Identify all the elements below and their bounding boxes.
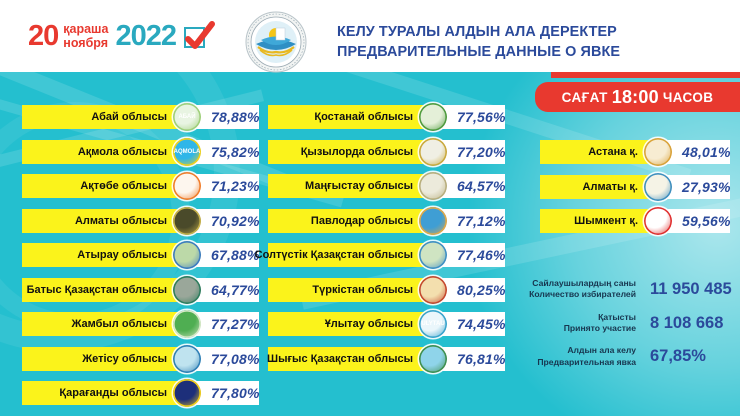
region-name: Атырау облысы [22,243,187,267]
region-row: Қостанай облысы77,56% [268,105,505,129]
region-row: Жамбыл облысы77,27% [22,312,259,336]
pavlodar-region-emblem [419,207,447,235]
title-ru: ПРЕДВАРИТЕЛЬНЫЕ ДАННЫЕ О ЯВКЕ [337,42,620,62]
region-name: Қостанай облысы [268,105,433,129]
zhambyl-region-emblem [173,310,201,338]
region-row: Батыс Қазақстан облысы64,77% [22,278,259,302]
summary-stat-label-ru: Принято участие [564,323,636,334]
aktobe-region-emblem [173,172,201,200]
summary-stat-label-ru: Количество избирателей [529,289,636,300]
summary-stat-label: Сайлаушылардың саныКоличество избирателе… [529,278,636,301]
karaganda-region-emblem [173,379,201,407]
region-name: Астана қ. [540,140,658,164]
summary-stat-value: 67,85% [636,347,740,366]
page-title: КЕЛУ ТУРАЛЫ АЛДЫН АЛА ДЕРЕКТЕР ПРЕДВАРИТ… [337,22,620,63]
region-row: Атырау облысы67,88% [22,243,259,267]
region-name: Жамбыл облысы [22,312,187,336]
astana-city-emblem [644,138,672,166]
region-name: Солтүстік Қазақстан облысы [268,243,433,267]
region-name: Шымкент қ. [540,209,658,233]
region-name: Ақмола облысы [22,140,187,164]
hour-banner-ru: ЧАСОВ [663,90,714,105]
region-name: Алматы облысы [22,209,187,233]
summary-stat: ҚатыстыПринято участие8 108 668 [520,312,740,335]
region-row: Абай облысы78,88%АБАЙ [22,105,259,129]
region-name: Абай облысы [22,105,187,129]
region-row: Шымкент қ.59,56% [540,209,730,233]
region-row: Жетісу облысы77,08% [22,347,259,371]
region-row: Павлодар облысы77,12% [268,209,505,233]
summary-stat-label-kk: Қатысты [564,312,636,323]
date-month-ru: ноября [63,37,108,50]
region-name: Алматы қ. [540,175,658,199]
turkistan-region-emblem [419,276,447,304]
region-name: Қызылорда облысы [268,140,433,164]
date-month: қараша ноября [63,23,108,50]
north-kazakhstan-region-emblem [419,241,447,269]
west-kazakhstan-region-emblem [173,276,201,304]
region-name: Жетісу облысы [22,347,187,371]
summary-stat-label-kk: Сайлаушылардың саны [529,278,636,289]
summary-stat-label: Алдын ала келуПредварительная явка [537,345,636,368]
date-year: 2022 [115,22,176,51]
date-day: 20 [28,22,58,51]
checkmark-icon [184,27,205,48]
region-row: Шығыс Қазақстан облысы76,81% [268,347,505,371]
election-date: 20 қараша ноября 2022 [28,22,205,51]
region-row: Ақмола облысы75,82%AQMOLA [22,140,259,164]
atyrau-region-emblem [173,241,201,269]
region-row: Түркістан облысы80,25% [268,278,505,302]
region-name: Шығыс Қазақстан облысы [268,347,433,371]
akmola-region-emblem: AQMOLA [173,138,201,166]
summary-stat: Алдын ала келуПредварительная явка67,85% [520,345,740,368]
region-name: Ақтөбе облысы [22,174,187,198]
region-name: Павлодар облысы [268,209,433,233]
page-header: 20 қараша ноября 2022 КЕЛУ ТУРАЛЫ АЛДЫН … [0,0,740,72]
region-row: Алматы қ.27,93% [540,175,730,199]
ulytau-region-emblem: ULYTAU [419,310,447,338]
summary-stat-label-ru: Предварительная явка [537,357,636,368]
region-row: Солтүстік Қазақстан облысы77,46% [268,243,505,267]
kyzylorda-region-emblem [419,138,447,166]
zhetysu-region-emblem [173,345,201,373]
mangystau-region-emblem [419,172,447,200]
summary-stat-value: 8 108 668 [636,314,740,333]
east-kazakhstan-region-emblem [419,345,447,373]
shymkent-city-emblem [644,207,672,235]
region-row: Ұлытау облысы74,45%ULYTAU [268,312,505,336]
date-month-kk: қараша [63,23,108,36]
hour-banner: САҒАТ 18:00 ЧАСОВ [535,82,740,112]
kostanay-region-emblem [419,103,447,131]
region-row: Қарағанды облысы77,80% [22,381,259,405]
region-name: Ұлытау облысы [268,312,433,336]
region-row: Маңғыстау облысы64,57% [268,174,505,198]
region-name: Түркістан облысы [268,278,433,302]
almaty-region-emblem [173,207,201,235]
abai-region-emblem: АБАЙ [173,103,201,131]
summary-stat-label-kk: Алдын ала келу [537,345,636,356]
summary-statistics: Сайлаушылардың саныКоличество избирателе… [520,278,740,379]
region-name: Маңғыстау облысы [268,174,433,198]
region-row: Ақтөбе облысы71,23% [22,174,259,198]
title-kk: КЕЛУ ТУРАЛЫ АЛДЫН АЛА ДЕРЕКТЕР [337,22,620,42]
summary-stat: Сайлаушылардың саныКоличество избирателе… [520,278,740,301]
kazakhstan-central-election-commission-emblem [245,11,307,73]
hour-banner-kk: САҒАТ [562,90,608,105]
hour-banner-time: 18:00 [612,87,659,108]
region-row: Алматы облысы70,92% [22,209,259,233]
summary-stat-value: 11 950 485 [636,280,740,299]
summary-stat-label: ҚатыстыПринято участие [564,312,636,335]
region-row: Астана қ.48,01% [540,140,730,164]
region-name: Батыс Қазақстан облысы [22,278,187,302]
region-row: Қызылорда облысы77,20% [268,140,505,164]
almaty-city-emblem [644,173,672,201]
region-name: Қарағанды облысы [22,381,187,405]
